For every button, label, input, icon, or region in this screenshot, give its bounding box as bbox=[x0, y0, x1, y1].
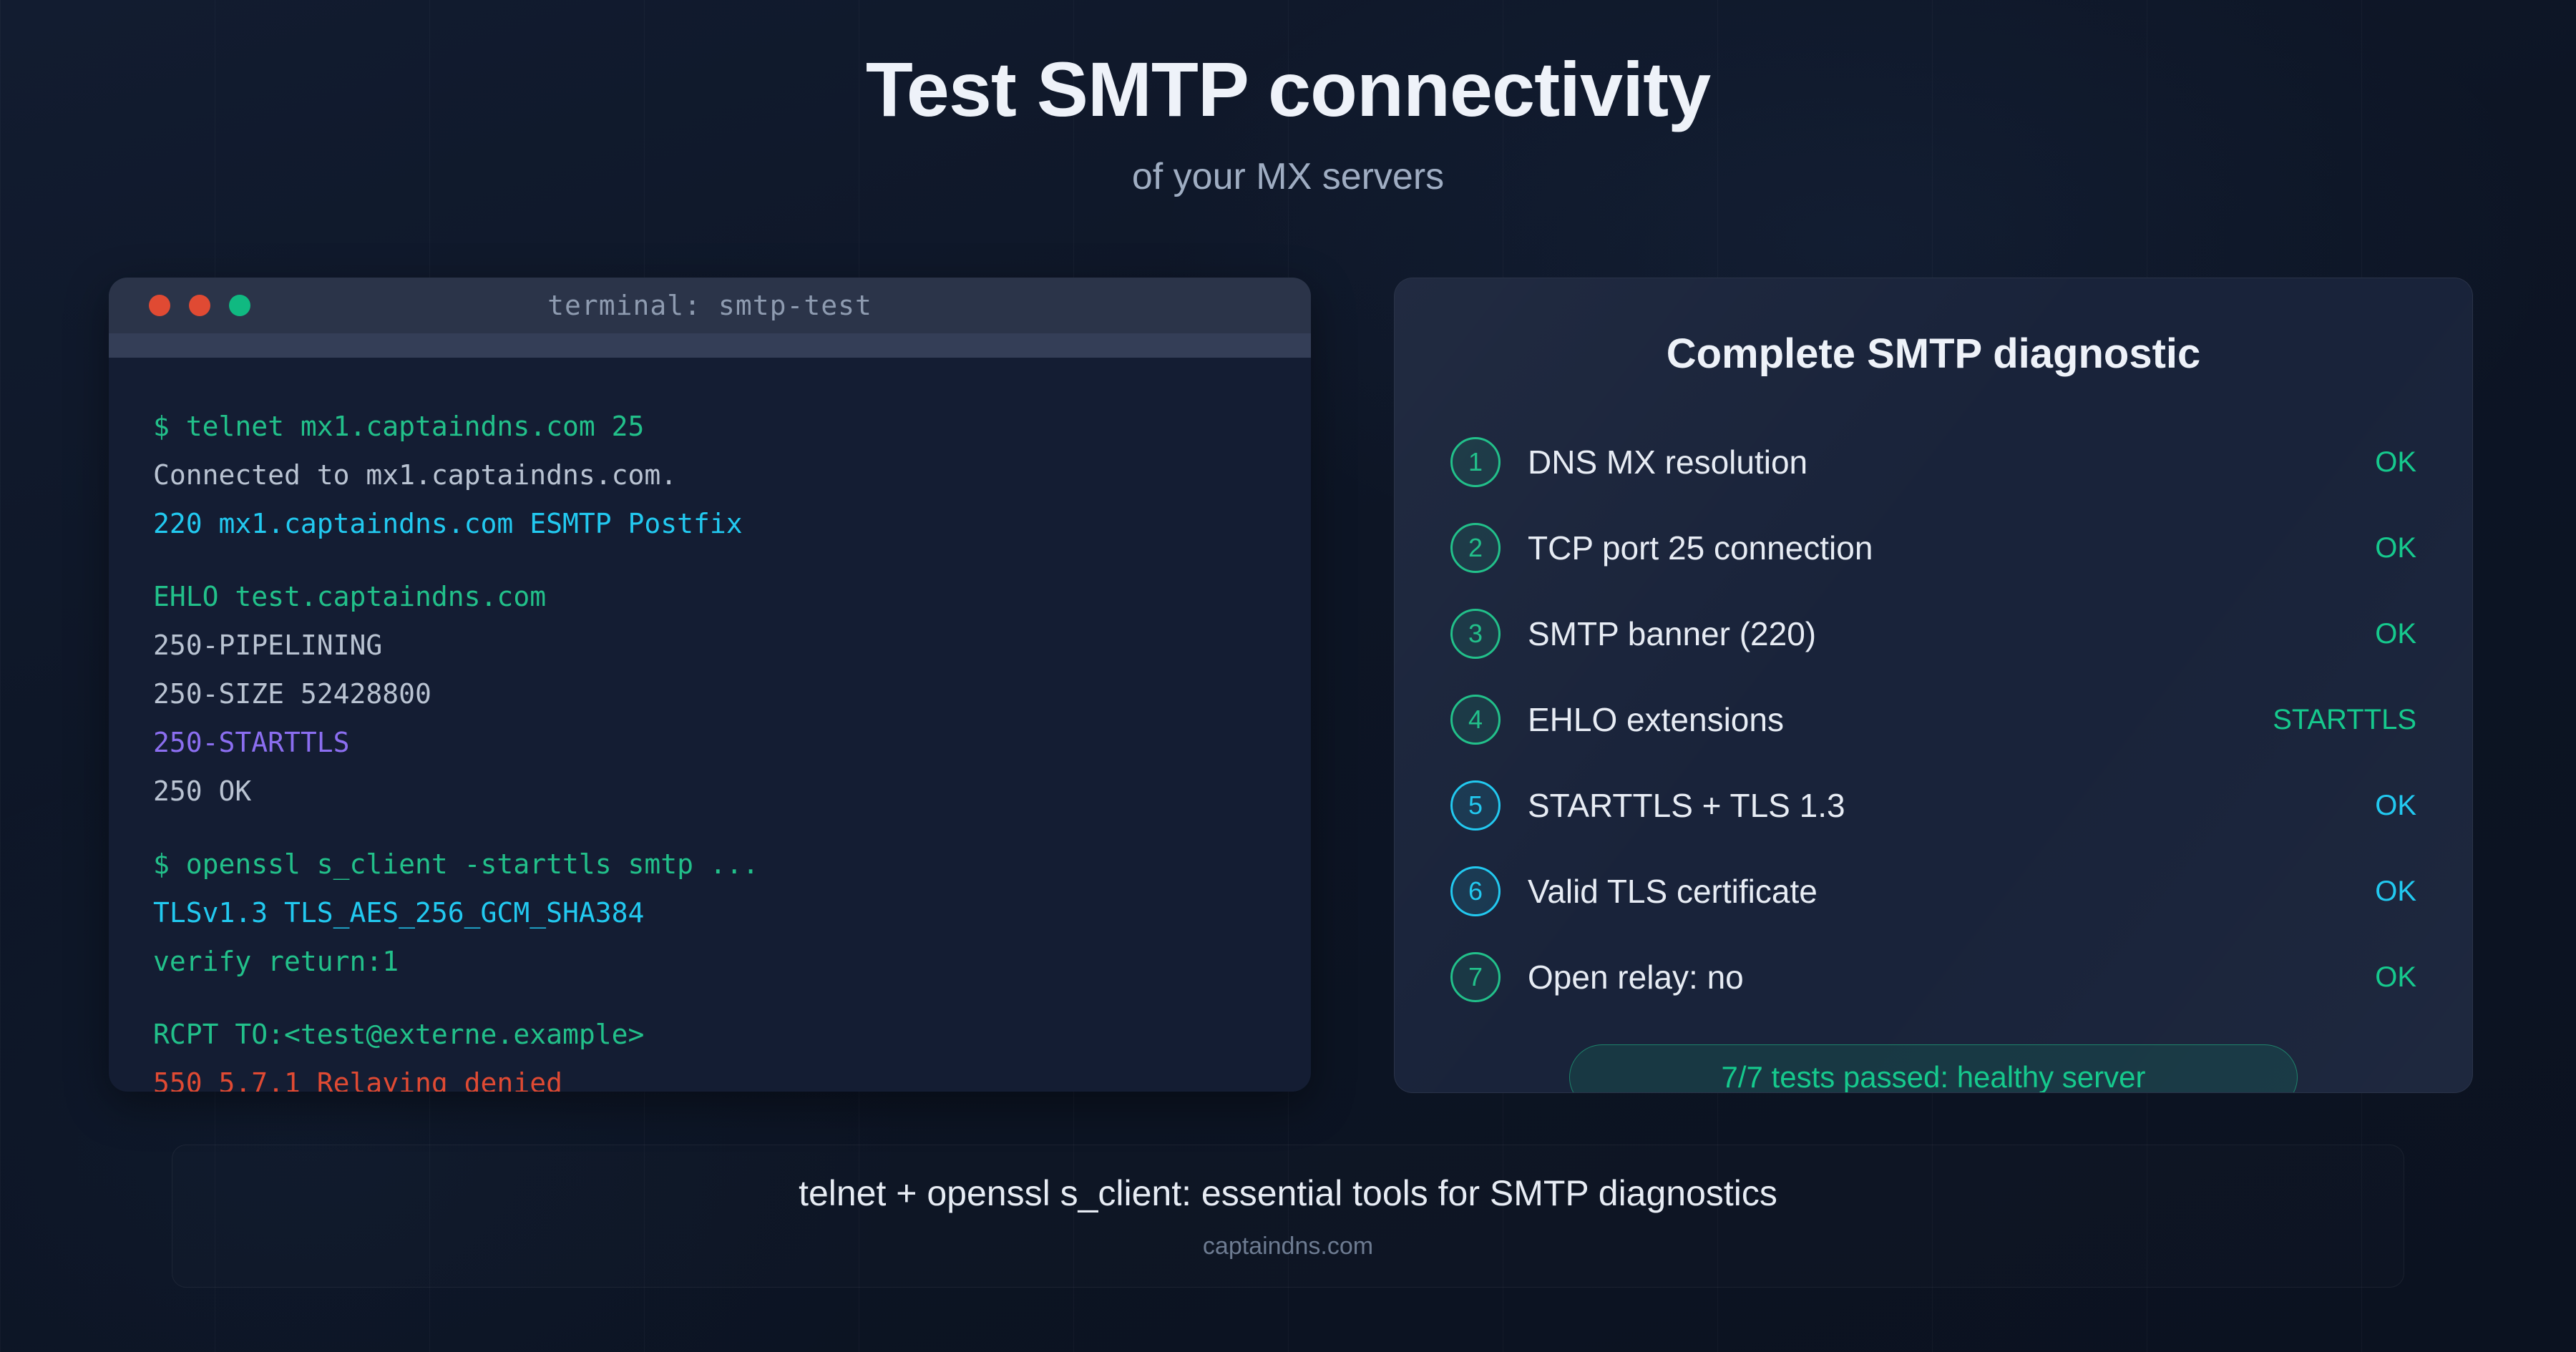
diagnostic-row-label: Open relay: no bbox=[1528, 958, 2375, 996]
terminal-window: terminal: smtp-test $ telnet mx1.captain… bbox=[109, 278, 1311, 1092]
status-badge: 7/7 tests passed: healthy server bbox=[1569, 1044, 2298, 1093]
diagnostic-row-label: EHLO extensions bbox=[1528, 700, 2273, 739]
terminal-line: 250-SIZE 52428800 bbox=[153, 670, 1311, 718]
terminal-line: 250-STARTTLS bbox=[153, 718, 1311, 767]
diagnostic-row-status: STARTTLS bbox=[2273, 704, 2416, 736]
step-number-badge: 5 bbox=[1450, 780, 1501, 831]
diagnostic-card: Complete SMTP diagnostic 1DNS MX resolut… bbox=[1394, 278, 2473, 1093]
diagnostic-list: 1DNS MX resolutionOK2TCP port 25 connect… bbox=[1395, 419, 2472, 1020]
page-header: Test SMTP connectivity of your MX server… bbox=[0, 0, 2576, 198]
diagnostic-row: 2TCP port 25 connectionOK bbox=[1450, 505, 2416, 591]
diagnostic-row-label: Valid TLS certificate bbox=[1528, 872, 2375, 911]
diagnostic-row-label: STARTTLS + TLS 1.3 bbox=[1528, 786, 2375, 825]
footer-domain: captaindns.com bbox=[1203, 1233, 1373, 1260]
diagnostic-title: Complete SMTP diagnostic bbox=[1395, 330, 2472, 378]
footer-text: telnet + openssl s_client: essential too… bbox=[799, 1172, 1777, 1214]
terminal-titlebar[interactable]: terminal: smtp-test bbox=[109, 278, 1311, 333]
terminal-blank-line bbox=[153, 986, 1311, 1010]
terminal-blank-line bbox=[153, 815, 1311, 840]
diagnostic-row-status: OK bbox=[2375, 876, 2416, 908]
diagnostic-row-status: OK bbox=[2375, 618, 2416, 650]
page-title: Test SMTP connectivity bbox=[0, 44, 2576, 134]
step-number-badge: 6 bbox=[1450, 866, 1501, 916]
diagnostic-row: 4EHLO extensionsSTARTTLS bbox=[1450, 677, 2416, 763]
terminal-blank-line bbox=[153, 548, 1311, 572]
poster-canvas: Test SMTP connectivity of your MX server… bbox=[0, 0, 2576, 1352]
terminal-line: 250 OK bbox=[153, 767, 1311, 815]
terminal-line: $ openssl s_client -starttls smtp ... bbox=[153, 840, 1311, 888]
step-number-badge: 7 bbox=[1450, 952, 1501, 1002]
diagnostic-row: 1DNS MX resolutionOK bbox=[1450, 419, 2416, 505]
step-number-badge: 1 bbox=[1450, 437, 1501, 487]
diagnostic-row: 6Valid TLS certificateOK bbox=[1450, 848, 2416, 934]
page-subtitle: of your MX servers bbox=[0, 155, 2576, 198]
diagnostic-row: 5STARTTLS + TLS 1.3OK bbox=[1450, 763, 2416, 848]
diagnostic-row: 3SMTP banner (220)OK bbox=[1450, 591, 2416, 677]
diagnostic-row-status: OK bbox=[2375, 961, 2416, 994]
terminal-line: Connected to mx1.captaindns.com. bbox=[153, 451, 1311, 499]
terminal-line: TLSv1.3 TLS_AES_256_GCM_SHA384 bbox=[153, 888, 1311, 937]
terminal-line: EHLO test.captaindns.com bbox=[153, 572, 1311, 621]
diagnostic-row-label: SMTP banner (220) bbox=[1528, 614, 2375, 653]
diagnostic-row-status: OK bbox=[2375, 532, 2416, 564]
step-number-badge: 2 bbox=[1450, 523, 1501, 573]
terminal-line: verify return:1 bbox=[153, 937, 1311, 986]
terminal-line: 250-PIPELINING bbox=[153, 621, 1311, 670]
terminal-line: 220 mx1.captaindns.com ESMTP Postfix bbox=[153, 499, 1311, 548]
terminal-line: RCPT TO:<test@externe.example> bbox=[153, 1010, 1311, 1059]
terminal-output: $ telnet mx1.captaindns.com 25Connected … bbox=[109, 358, 1311, 1092]
diagnostic-row: 7Open relay: noOK bbox=[1450, 934, 2416, 1020]
diagnostic-row-label: TCP port 25 connection bbox=[1528, 529, 2375, 567]
terminal-tabstrip bbox=[109, 333, 1311, 358]
diagnostic-row-label: DNS MX resolution bbox=[1528, 443, 2375, 481]
terminal-title: terminal: smtp-test bbox=[109, 290, 1311, 321]
diagnostic-row-status: OK bbox=[2375, 446, 2416, 479]
step-number-badge: 4 bbox=[1450, 695, 1501, 745]
terminal-line: $ telnet mx1.captaindns.com 25 bbox=[153, 402, 1311, 451]
terminal-line: 550 5.7.1 Relaying denied bbox=[153, 1059, 1311, 1092]
footer-banner: telnet + openssl s_client: essential too… bbox=[172, 1145, 2404, 1288]
diagnostic-row-status: OK bbox=[2375, 790, 2416, 822]
step-number-badge: 3 bbox=[1450, 609, 1501, 659]
